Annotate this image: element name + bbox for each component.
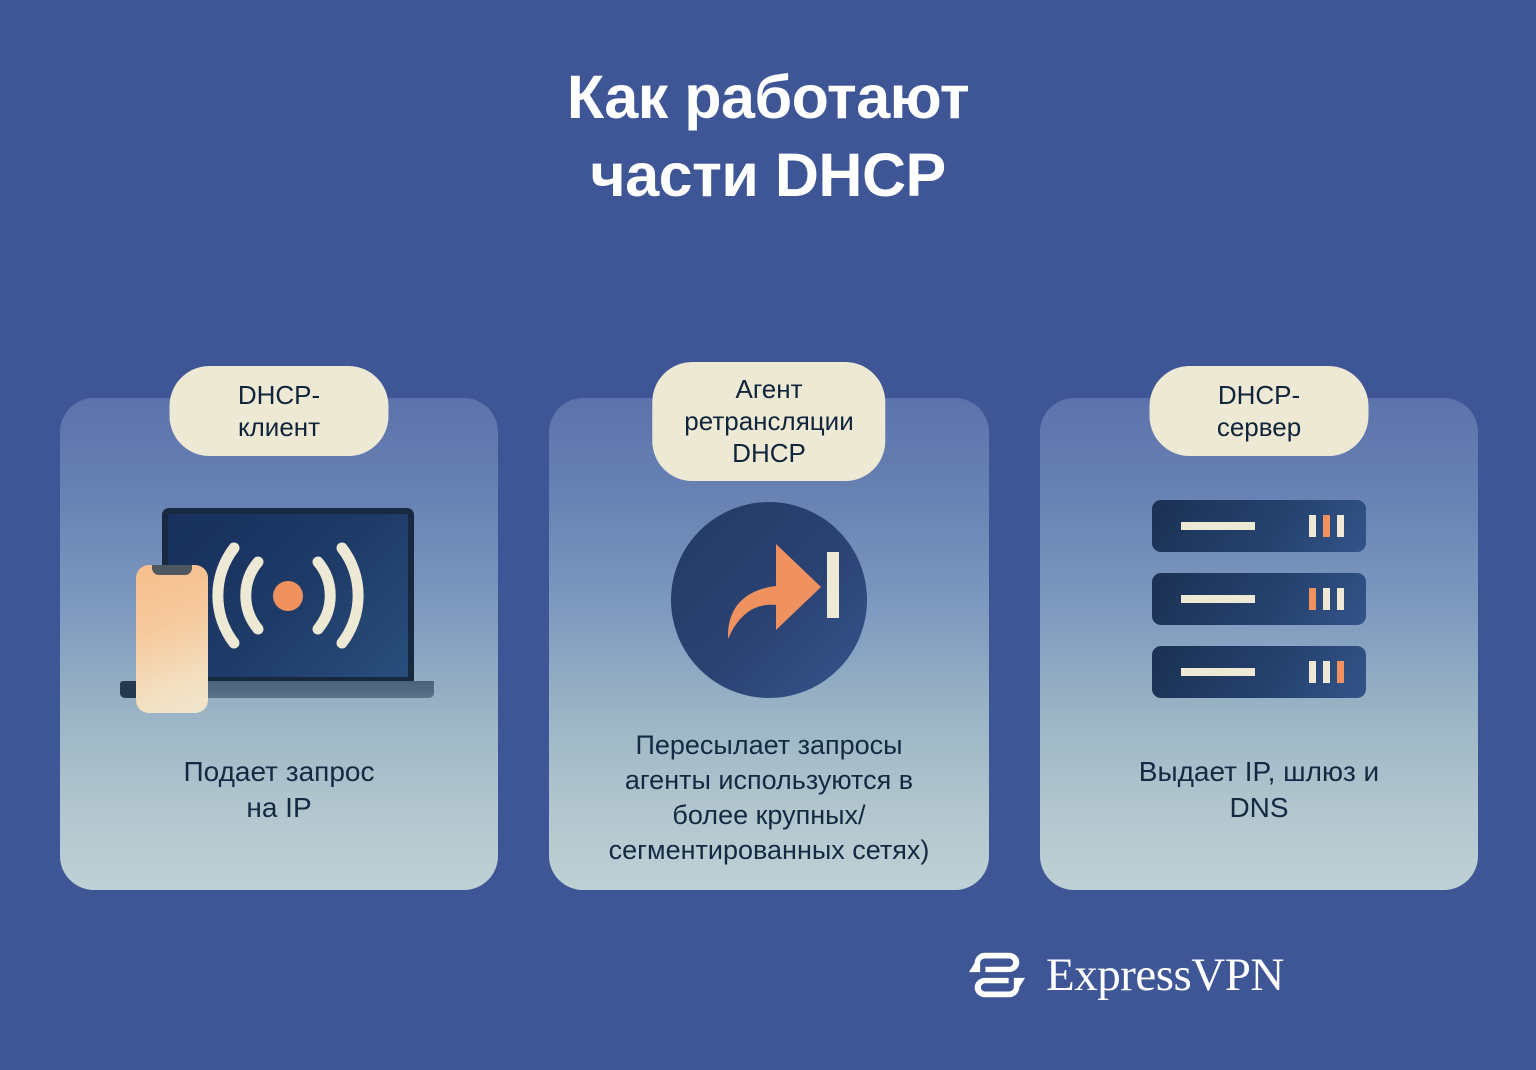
server-stack-icon (1152, 500, 1366, 700)
phone-notch (152, 565, 192, 575)
server-led-group (1309, 588, 1344, 610)
arrow-target-bar (827, 552, 839, 618)
card-art-client (60, 494, 498, 734)
card-header-pill-server: DHCP-сервер (1150, 366, 1369, 456)
server-led (1309, 661, 1316, 683)
server-led (1337, 515, 1344, 537)
cards-row: DHCP-клиент (60, 398, 1478, 890)
server-rack (1152, 573, 1366, 625)
card-art-server (1040, 494, 1478, 734)
expressvpn-e-logo (966, 944, 1028, 1006)
expressvpn-wordmark: ExpressVPN (1046, 952, 1284, 999)
server-led-group (1309, 515, 1344, 537)
server-led-active (1337, 661, 1344, 683)
card-caption-relay: Пересылает запросы агенты используются в… (571, 728, 967, 868)
wifi-center-dot (273, 581, 303, 611)
card-caption-client: Подает запрос на IP (82, 754, 476, 827)
server-led-active (1309, 588, 1316, 610)
server-led-active (1323, 515, 1330, 537)
laptop-phone-wifi-icon (114, 508, 444, 718)
server-rack-bar (1181, 668, 1255, 676)
server-led (1337, 588, 1344, 610)
server-led-group (1309, 661, 1344, 683)
forward-arrow-glyph (671, 502, 867, 698)
curved-arrow-shape (728, 544, 821, 639)
card-caption-server: Выдает IP, шлюз и DNS (1062, 754, 1456, 827)
server-rack (1152, 500, 1366, 552)
card-dhcp-server: DHCP-сервер (1040, 398, 1478, 890)
server-led (1323, 661, 1330, 683)
expressvpn-logo: ExpressVPN (966, 944, 1284, 1006)
card-dhcp-client: DHCP-клиент (60, 398, 498, 890)
server-led (1309, 515, 1316, 537)
server-rack-bar (1181, 595, 1255, 603)
card-art-relay (549, 494, 989, 734)
card-header-pill-relay: Агент ретрансляции DHCP (652, 362, 885, 481)
forward-arrow-circle-icon (671, 502, 867, 698)
server-rack (1152, 646, 1366, 698)
card-header-pill-client: DHCP-клиент (170, 366, 389, 456)
phone-device (136, 565, 208, 713)
server-rack-bar (1181, 522, 1255, 530)
card-dhcp-relay-agent: Агент ретрансляции DHCP Пересылает запро… (549, 398, 989, 890)
page-title: Как работают части DHCP (0, 58, 1536, 214)
server-led (1323, 588, 1330, 610)
